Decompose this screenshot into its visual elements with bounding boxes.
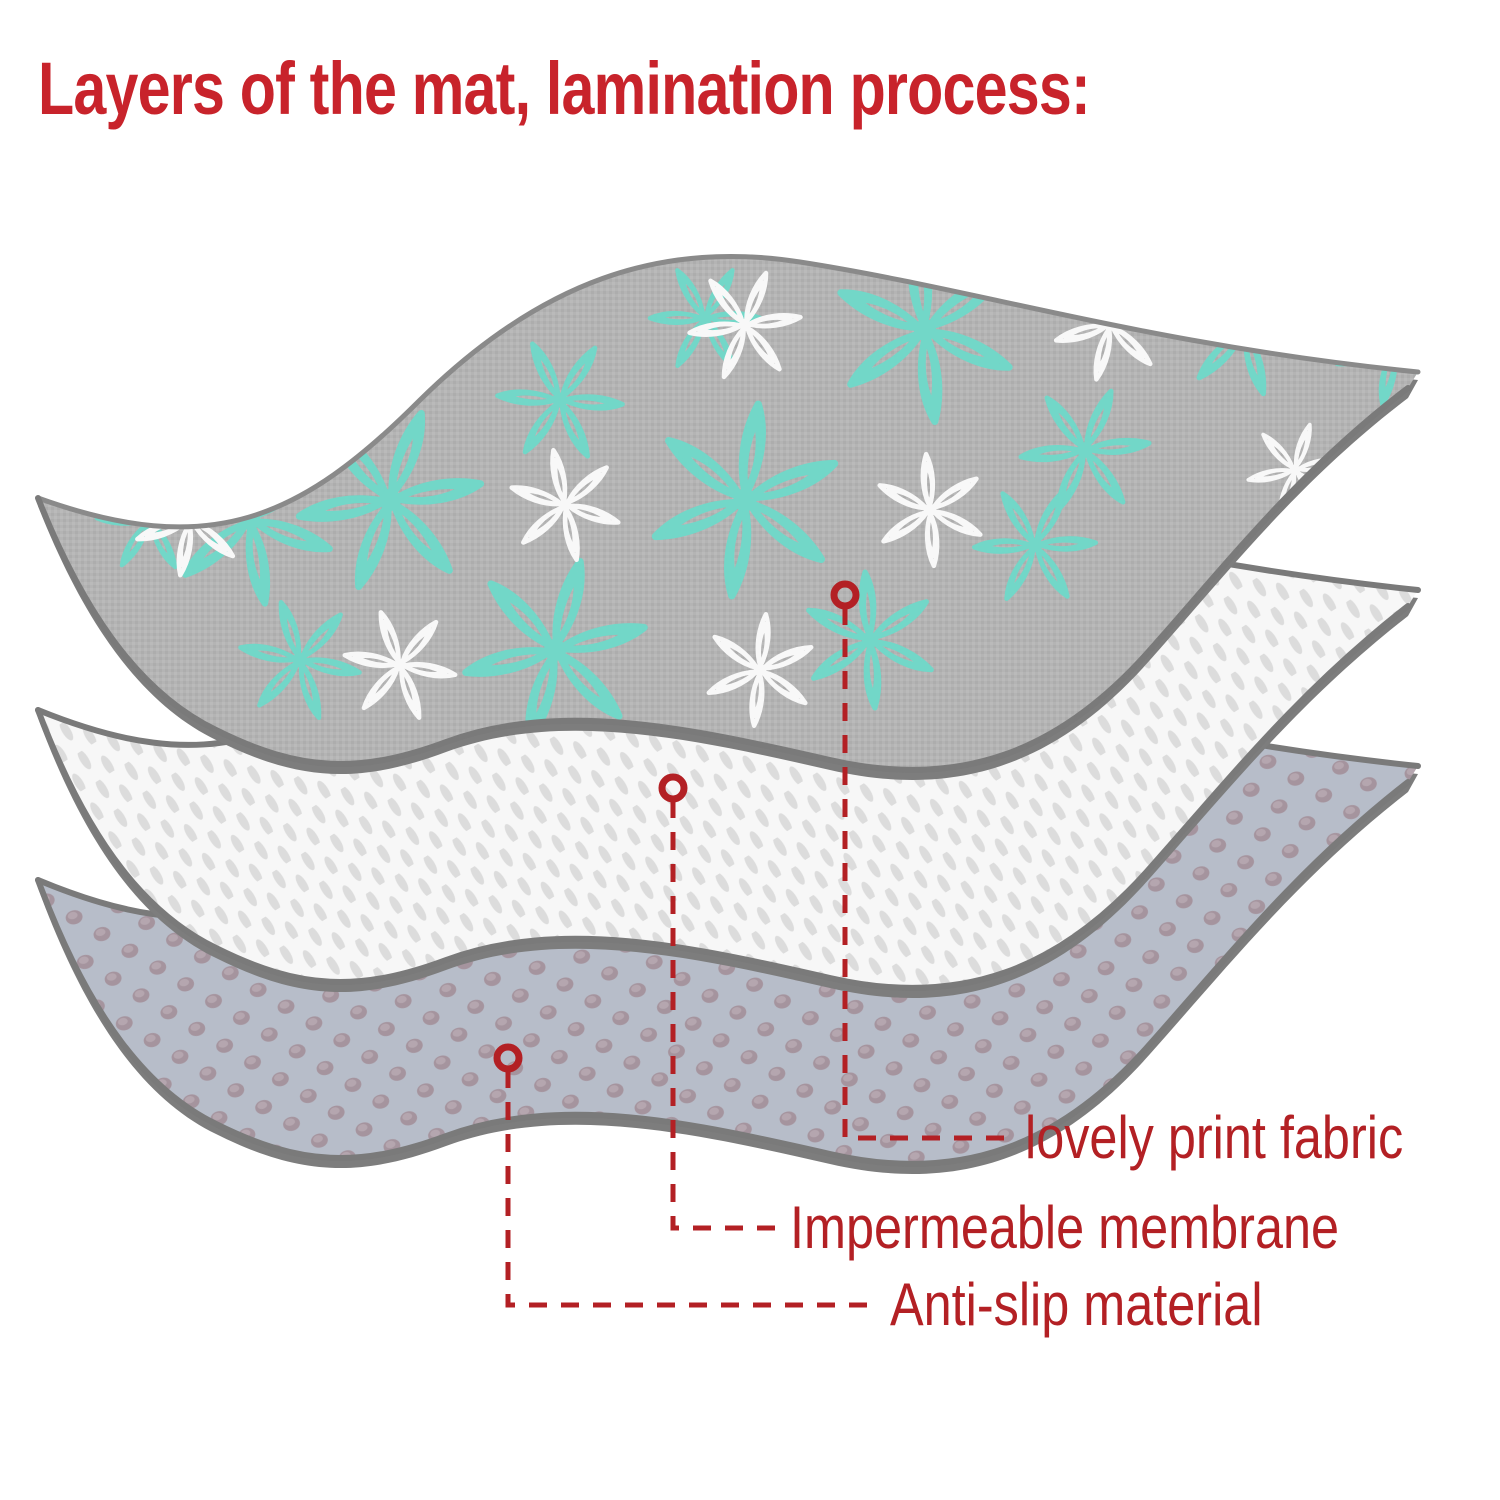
callout-label-impermeable-membrane: Impermeable membrane bbox=[790, 1198, 1339, 1258]
layer-stack-diagram bbox=[0, 0, 1500, 1500]
callout-label-lovely-print-fabric: lovely print fabric bbox=[1025, 1108, 1403, 1168]
callout-label-anti-slip-material: Anti-slip material bbox=[890, 1275, 1263, 1335]
infographic-canvas: Layers of the mat, lamination process: bbox=[0, 0, 1500, 1500]
